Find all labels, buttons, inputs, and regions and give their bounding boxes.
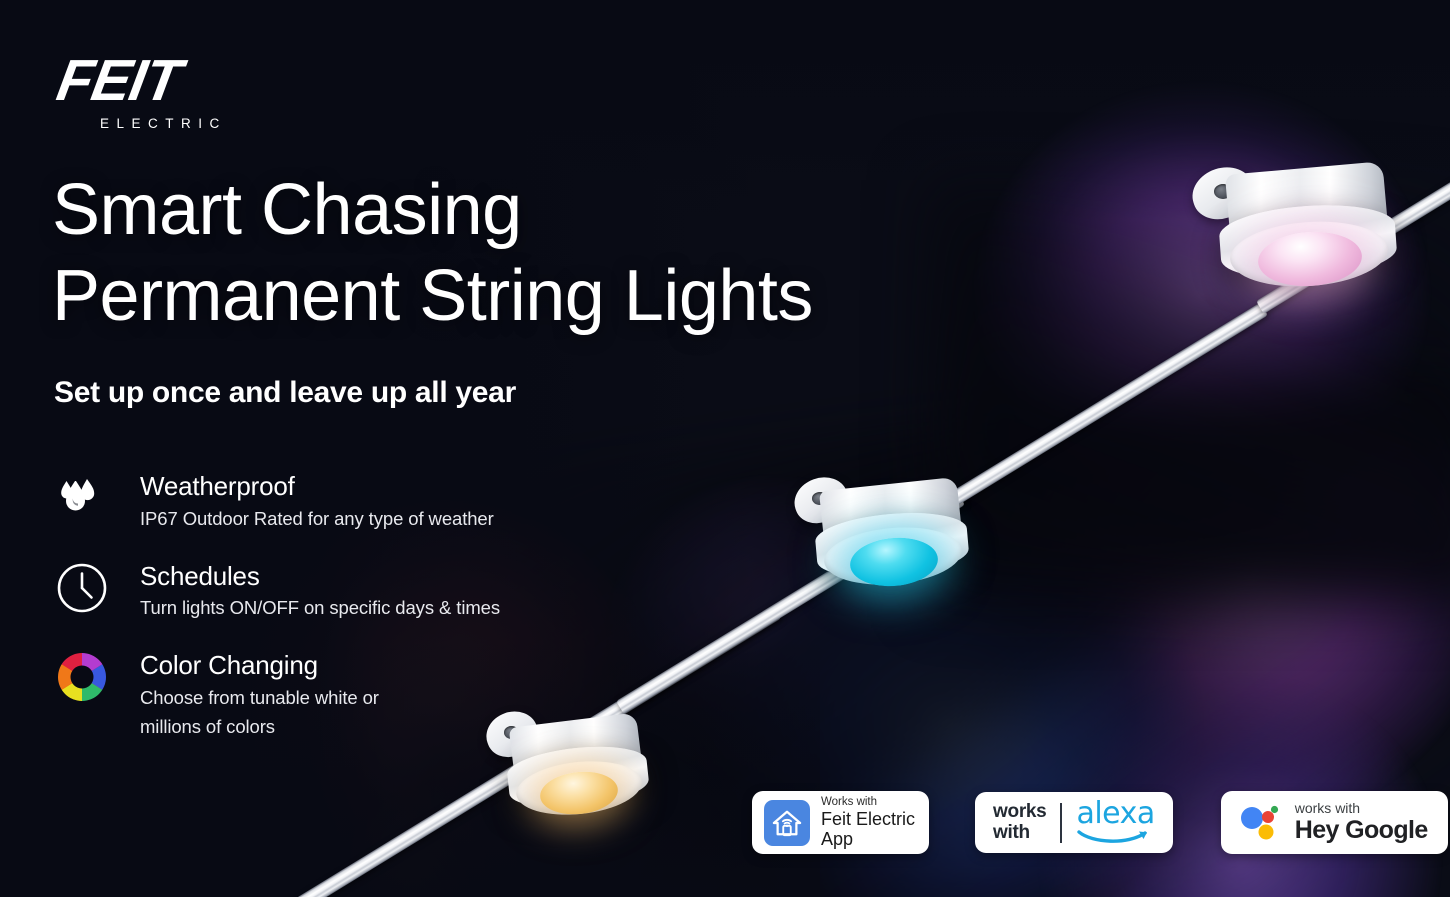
badge-works-with-hey-google[interactable]: works with Hey Google [1221, 791, 1448, 854]
headline-line-1: Smart Chasing [52, 168, 813, 254]
color-wheel-icon [54, 649, 110, 705]
page-title: Smart Chasing Permanent String Lights [52, 168, 813, 339]
badge-works-with-alexa[interactable]: works with alexa [975, 792, 1173, 853]
feature-text: Color Changing Choose from tunable white… [140, 649, 440, 741]
feature-title: Weatherproof [140, 472, 494, 502]
clock-icon [54, 560, 110, 616]
logo-subtext: ELECTRIC [100, 116, 227, 131]
headline-line-2: Permanent String Lights [52, 254, 813, 340]
feit-electric-logo: FEIT ELECTRIC [58, 52, 227, 131]
hero-banner: FEIT ELECTRIC Smart Chasing Permanent St… [0, 0, 1450, 897]
feature-text: Schedules Turn lights ON/OFF on specific… [140, 560, 500, 624]
badge-name-line2: App [821, 829, 915, 849]
light-fixture-middle [788, 470, 978, 610]
feature-item-weatherproof: Weatherproof IP67 Outdoor Rated for any … [54, 470, 674, 534]
water-drop-icon [54, 470, 110, 526]
alexa-wordmark: alexa [1076, 800, 1154, 828]
divider [1060, 803, 1062, 843]
feature-list: Weatherproof IP67 Outdoor Rated for any … [54, 470, 674, 767]
amazon-smile-icon [1076, 828, 1154, 845]
feature-title: Color Changing [140, 651, 440, 681]
alexa-logo: alexa [1076, 800, 1154, 846]
badge-text: Works with Feit Electric App [821, 796, 915, 850]
badge-name: Hey Google [1295, 816, 1428, 844]
badge-works-with-label: works with [993, 802, 1046, 843]
light-fixture-top [1188, 158, 1408, 318]
with-word: with [993, 823, 1046, 844]
home-wifi-icon [764, 800, 810, 846]
badge-name-line1: Feit Electric [821, 809, 915, 829]
feature-desc: IP67 Outdoor Rated for any type of weath… [140, 505, 494, 534]
feature-item-schedules: Schedules Turn lights ON/OFF on specific… [54, 560, 674, 624]
feature-desc: Choose from tunable white or millions of… [140, 684, 440, 741]
compatibility-badges: Works with Feit Electric App works with … [752, 791, 1448, 854]
badge-text: works with Hey Google [1295, 801, 1428, 845]
works-word: works [993, 802, 1046, 823]
logo-wordmark: FEIT [53, 52, 232, 110]
badge-feit-electric-app[interactable]: Works with Feit Electric App [752, 791, 929, 854]
subheadline: Set up once and leave up all year [54, 376, 516, 410]
feature-title: Schedules [140, 562, 500, 592]
feature-text: Weatherproof IP67 Outdoor Rated for any … [140, 470, 494, 534]
badge-works-with-label: Works with [821, 796, 915, 809]
feature-desc: Turn lights ON/OFF on specific days & ti… [140, 594, 500, 623]
google-assistant-dots-icon [1237, 801, 1281, 845]
feature-item-color-changing: Color Changing Choose from tunable white… [54, 649, 674, 741]
badge-works-with-label: works with [1295, 801, 1428, 817]
